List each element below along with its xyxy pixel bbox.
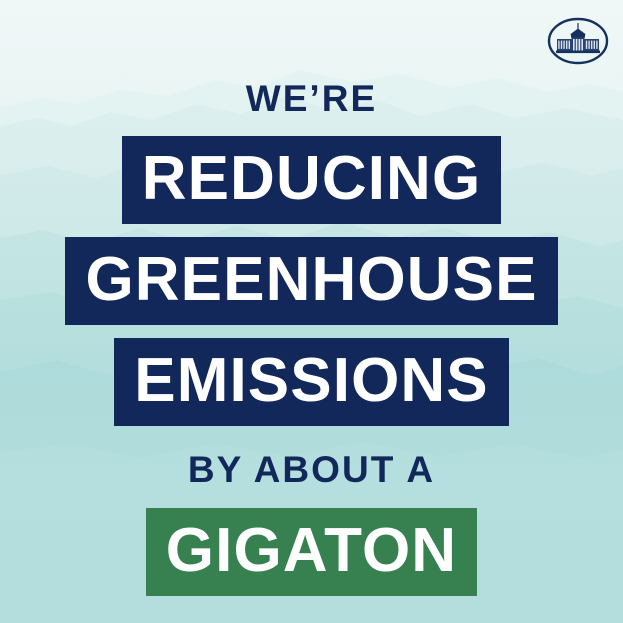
- poster-content: WE’RE REDUCING GREENHOUSE EMISSIONS BY A…: [0, 0, 623, 623]
- headline-line-by-about-a: BY ABOUT A: [188, 451, 435, 488]
- headline-line-gigaton: GIGATON: [146, 508, 477, 596]
- headline-line-reducing: REDUCING: [122, 136, 502, 224]
- poster-canvas: WE’RE REDUCING GREENHOUSE EMISSIONS BY A…: [0, 0, 623, 623]
- headline-line-were: WE’RE: [246, 80, 377, 117]
- headline-line-emissions: EMISSIONS: [114, 338, 509, 426]
- headline-line-greenhouse: GREENHOUSE: [65, 237, 557, 325]
